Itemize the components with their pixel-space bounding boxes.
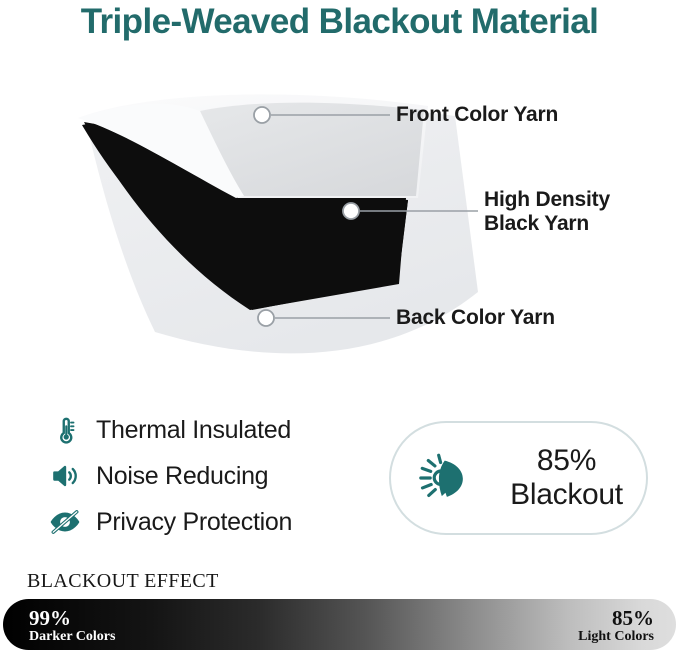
blackout-effect-gradient-bar: 99% Darker Colors 85% Light Colors [3,599,676,650]
feature-item-thermal-insulated: Thermal Insulated [48,408,378,452]
feature-item-noise-reducing: Noise Reducing [48,454,378,498]
blackout-effect-heading: BLACKOUT EFFECT [27,570,219,593]
callout-label-front-color-yarn: Front Color Yarn [396,103,558,127]
badge-text-block: 85% Blackout [487,444,646,511]
callout-label-high-density-black-yarn: High Density Black Yarn [484,188,610,235]
feature-label: Privacy Protection [96,508,292,537]
gradient-stat-light-colors: 85% Light Colors [578,607,654,645]
badge-percent: 85% [537,444,596,477]
feature-label: Thermal Insulated [96,416,291,445]
feature-list: Thermal Insulated Noise Reducing [48,408,378,546]
page-title: Triple-Weaved Blackout Material [0,2,679,42]
light-colors-percent: 85% [578,607,654,629]
blackout-percentage-badge: 85% Blackout [389,421,648,535]
eye-off-icon [48,505,82,539]
sun-blocking-curtain-icon [413,447,475,509]
feature-label: Noise Reducing [96,462,268,491]
marker-front-color-yarn [254,107,270,123]
light-colors-sublabel: Light Colors [578,630,654,645]
thermometer-icon [48,413,82,447]
marker-high-density-black-yarn [343,203,359,219]
feature-item-privacy-protection: Privacy Protection [48,500,378,544]
infographic-page: Triple-Weaved Blackout Material [0,0,679,654]
callout-label-back-color-yarn: Back Color Yarn [396,306,555,330]
badge-word: Blackout [510,478,623,511]
gradient-stat-darker-colors: 99% Darker Colors [29,607,115,645]
darker-colors-percent: 99% [29,607,115,629]
darker-colors-sublabel: Darker Colors [29,630,115,645]
marker-back-color-yarn [258,310,274,326]
speaker-volume-icon [48,459,82,493]
